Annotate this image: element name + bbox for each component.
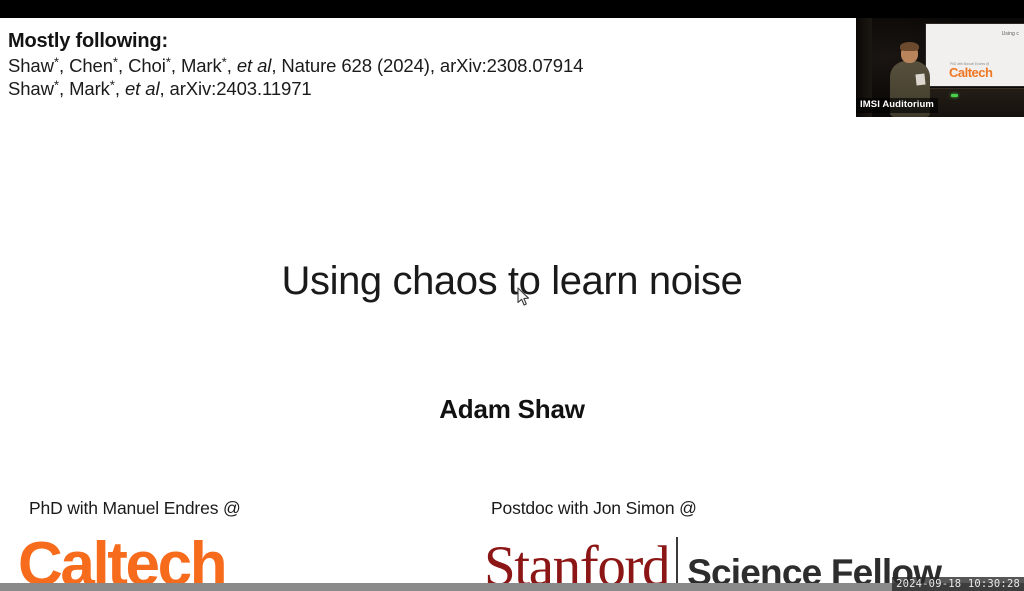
presentation-recording-frame: Mostly following: Shaw*, Chen*, Choi*, M…	[0, 0, 1024, 591]
reference-2-author-2: Mark*	[69, 78, 115, 99]
reference-2-citation: , arXiv:2403.11971	[159, 78, 311, 99]
reference-1-author-2: Chen*	[69, 55, 118, 76]
recording-timestamp: 2024-09-18 10:30:28	[892, 577, 1024, 591]
reference-1-citation: , Nature 628 (2024), arXiv:2308.07914	[271, 55, 583, 76]
speaker-hair	[900, 42, 919, 51]
logo-divider	[676, 537, 678, 583]
references-heading: Mostly following:	[8, 28, 583, 54]
slide-title: Using chaos to learn noise	[0, 259, 1024, 304]
reference-1-author-4: Mark*	[181, 55, 227, 76]
reference-1-etal: et al	[237, 55, 271, 76]
webcam-projected-title: Using c	[1002, 31, 1019, 37]
reference-entry-2: Shaw*, Mark*, et al, arXiv:2403.11971	[8, 77, 583, 100]
reference-1-sep: ,	[59, 55, 69, 76]
console-led-indicator	[951, 94, 958, 97]
webcam-projection-screen: Using c PhD with Manuel Endres @ Caltech	[926, 24, 1024, 86]
affiliation-caption-caltech: PhD with Manuel Endres @	[29, 498, 241, 519]
webcam-location-label: IMSI Auditorium	[856, 98, 938, 113]
letterbox-bottom-bar	[0, 583, 1024, 591]
references-block: Mostly following: Shaw*, Chen*, Choi*, M…	[8, 28, 583, 100]
reference-2-etal: et al	[125, 78, 159, 99]
webcam-projected-logo: Caltech	[949, 66, 992, 79]
reference-1-author-1: Shaw*	[8, 55, 59, 76]
reference-1-author-3: Choi*	[128, 55, 171, 76]
webcam-overlay[interactable]: Using c PhD with Manuel Endres @ Caltech…	[856, 18, 1024, 117]
reference-2-author-1: Shaw*	[8, 78, 59, 99]
letterbox-top-bar	[0, 0, 1024, 18]
speaker-name: Adam Shaw	[0, 394, 1024, 425]
reference-entry-1: Shaw*, Chen*, Choi*, Mark*, et al, Natur…	[8, 54, 583, 77]
affiliation-caption-stanford: Postdoc with Jon Simon @	[491, 498, 697, 519]
speaker-name-badge	[915, 74, 925, 86]
